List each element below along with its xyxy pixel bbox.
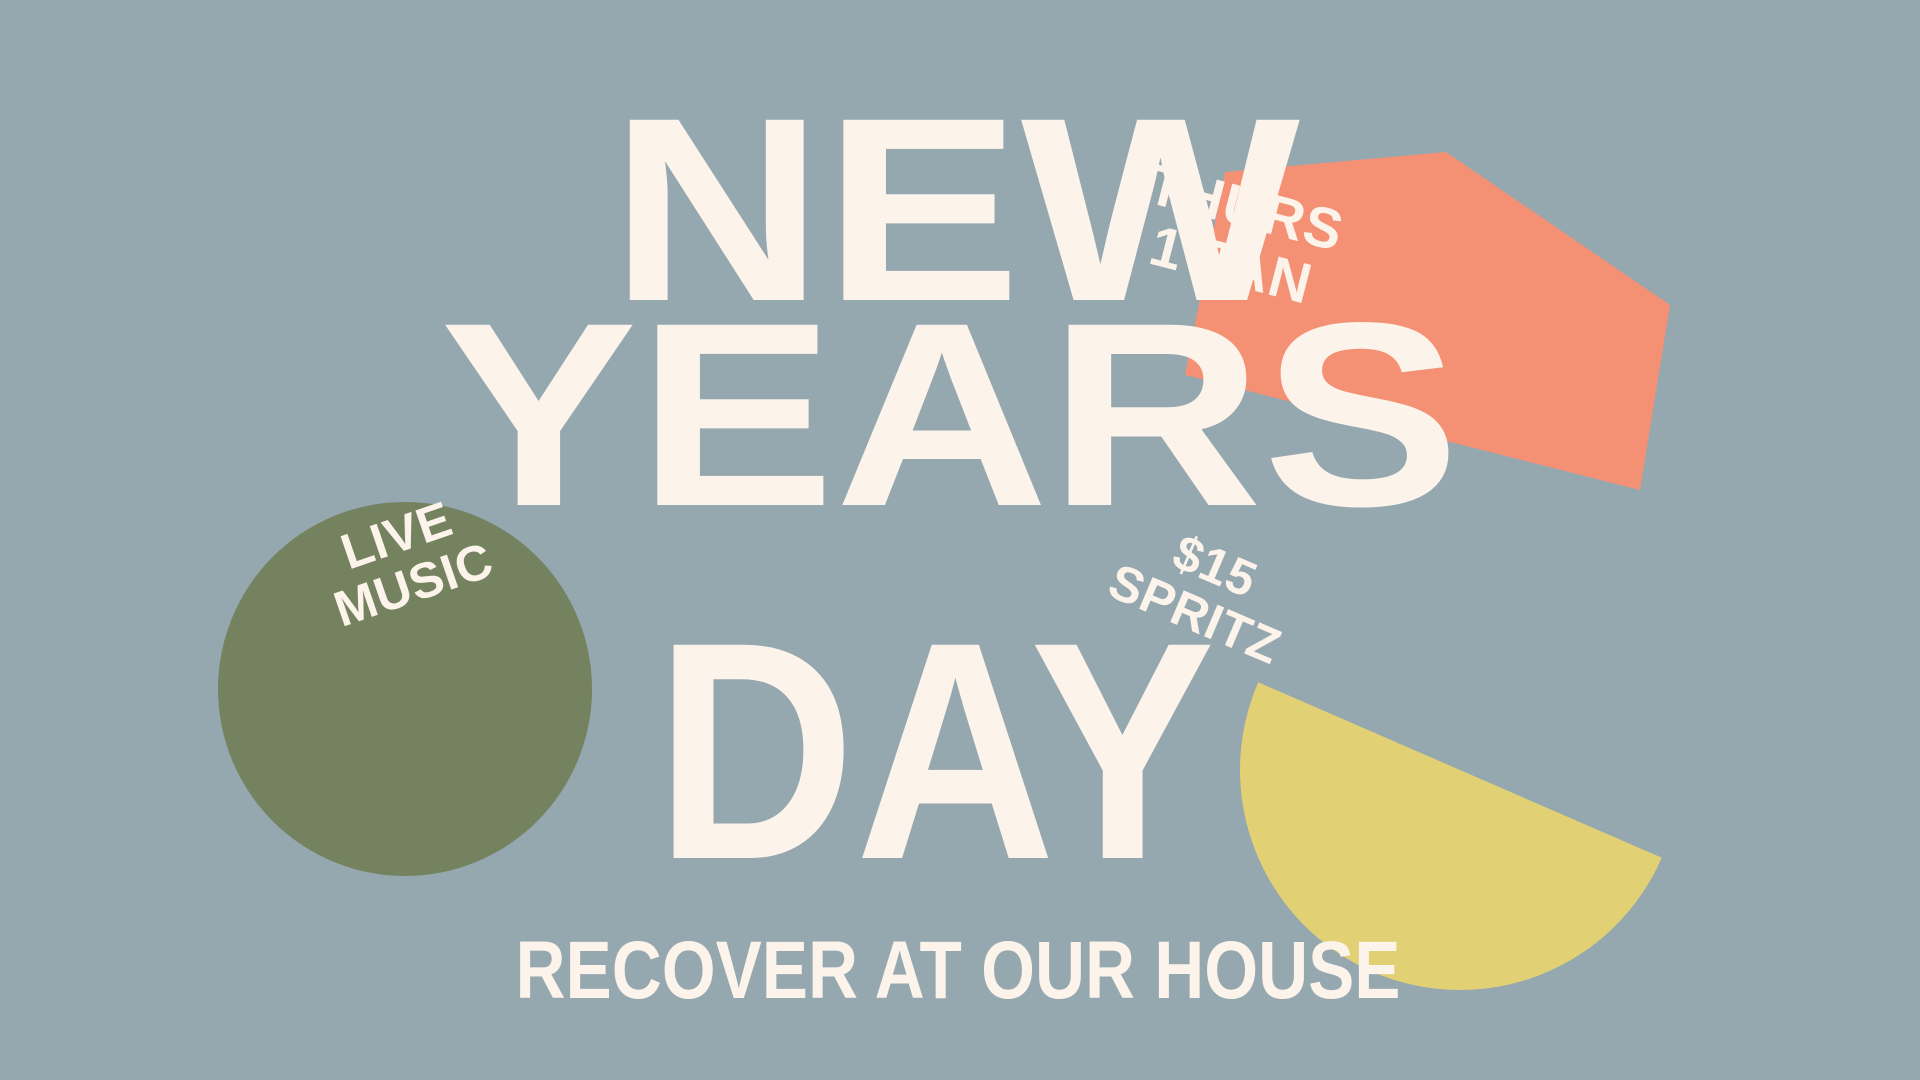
spritz-badge-label: $15 SPRITZ xyxy=(1033,478,1377,703)
tagline-text: RECOVER AT OUR HOUSE xyxy=(516,928,1401,1016)
poster-canvas: NEW YEARS DAY RECOVER AT OUR HOUSE THURS… xyxy=(0,0,1920,1080)
tagline-block: RECOVER AT OUR HOUSE xyxy=(0,928,1920,1018)
headline-line-day: DAY xyxy=(655,577,1215,924)
